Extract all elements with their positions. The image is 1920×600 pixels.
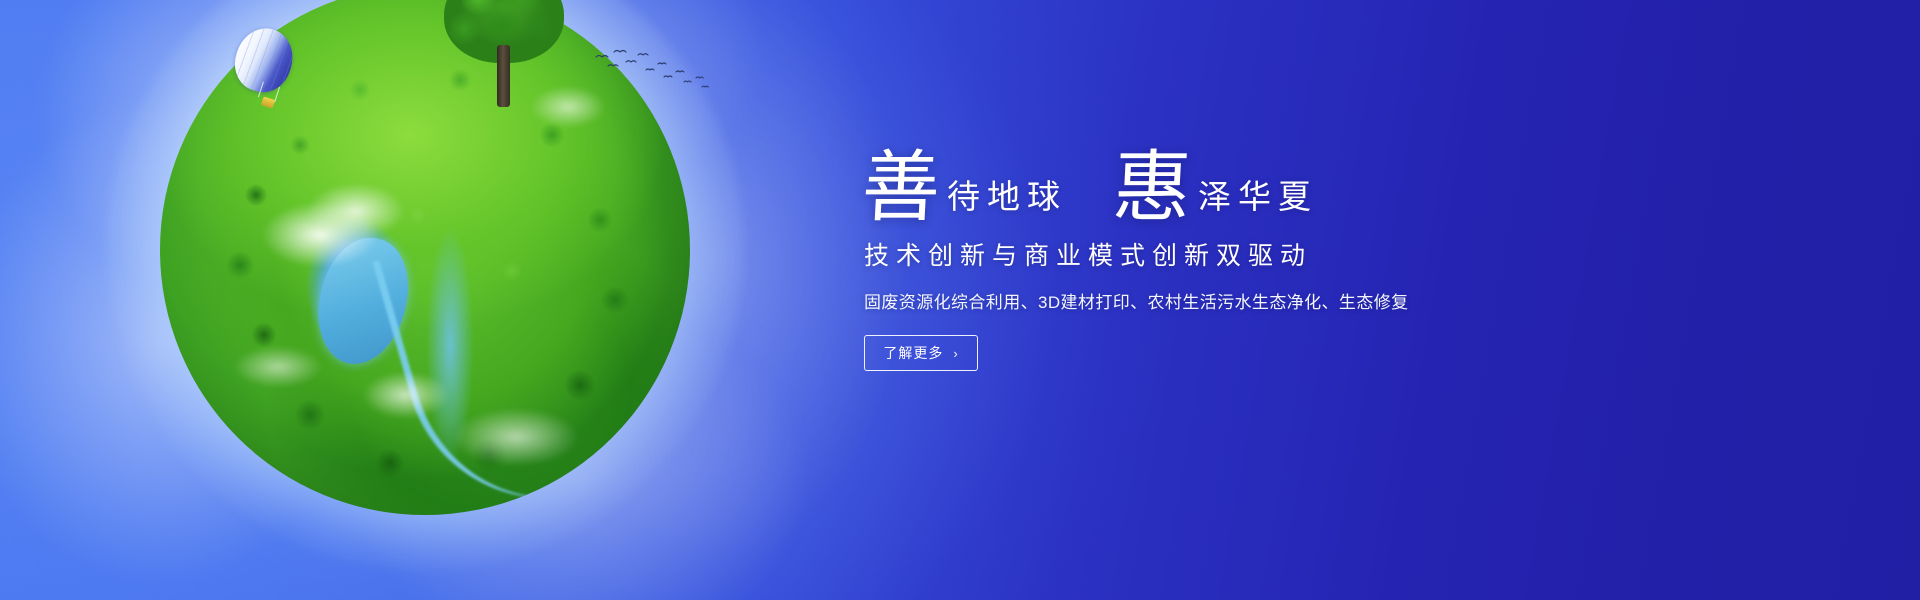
page-title: 善 待地球 惠 泽华夏 [862,132,1562,224]
learn-more-label: 了解更多 [883,343,943,363]
balloon-icon [236,28,298,116]
page-description: 固废资源化综合利用、3D建材打印、农村生活污水生态净化、生态修复 [864,288,1562,313]
headline-small-2: 泽华夏 [1198,182,1318,224]
headline-group-2: 惠 泽华夏 [1113,152,1318,224]
tree-icon [444,0,564,107]
headline-big-1: 善 [860,152,942,224]
headline-small-1: 待地球 [947,182,1067,224]
tree-trunk [497,45,510,107]
headline-big-2: 惠 [1111,152,1193,224]
headline-group-1: 善 待地球 [862,152,1067,224]
page-subtitle: 技术创新与商业模式创新双驱动 [864,236,1562,272]
hero-copy: 善 待地球 惠 泽华夏 技术创新与商业模式创新双驱动 固废资源化综合利用、3D建… [862,132,1562,371]
learn-more-button[interactable]: 了解更多 › [864,335,978,371]
chevron-right-icon: › [953,346,958,361]
hero-banner: 善 待地球 惠 泽华夏 技术创新与商业模式创新双驱动 固废资源化综合利用、3D建… [0,0,1920,600]
birds-icon [592,48,712,92]
